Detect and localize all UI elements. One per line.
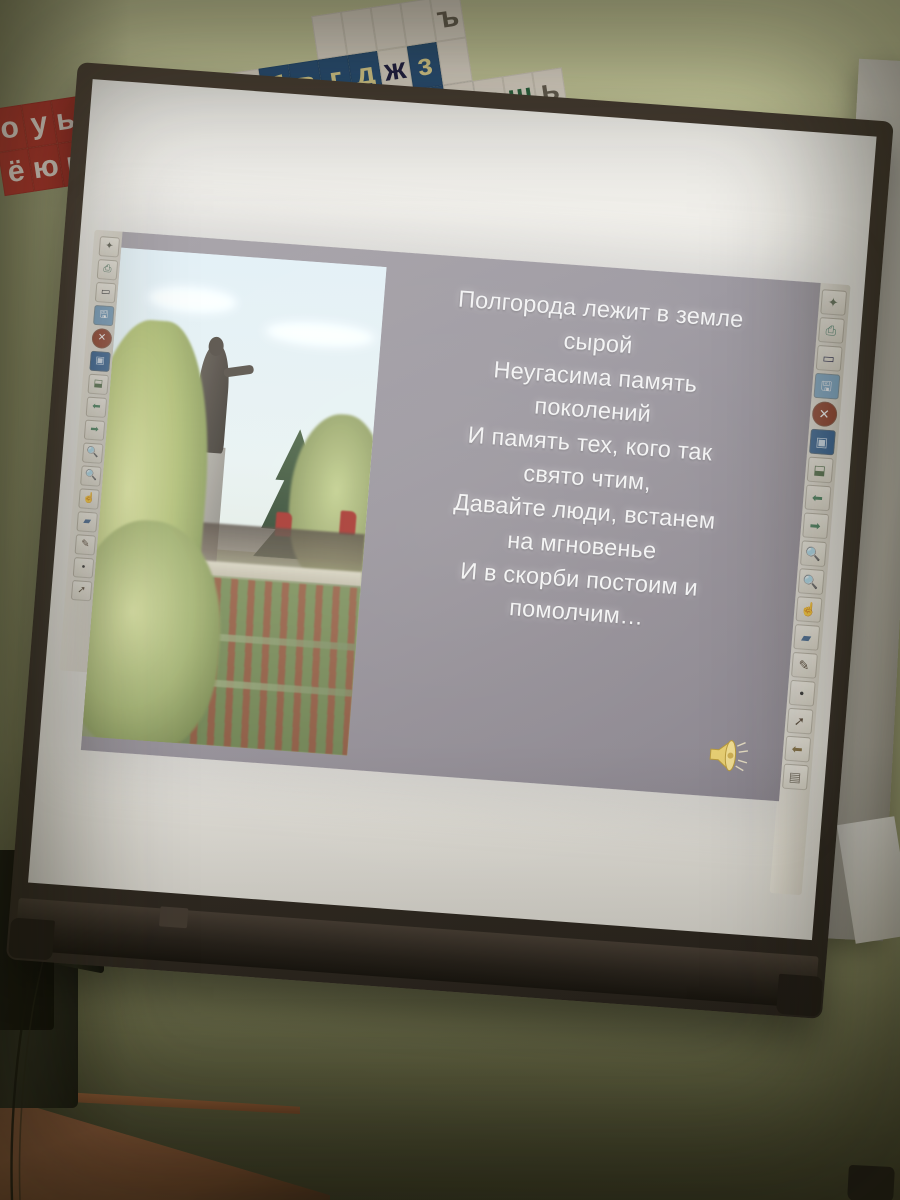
- speaker-icon[interactable]: [705, 734, 754, 777]
- dot-pen-icon[interactable]: •: [788, 680, 815, 707]
- printer-icon[interactable]: ⎙: [817, 317, 844, 344]
- close-icon[interactable]: ✕: [91, 328, 113, 349]
- classroom-photo-scene: о у ы э ё ю и е н м л р й б в: [0, 0, 900, 1200]
- undo-arrow-icon[interactable]: ⬅: [784, 736, 811, 763]
- arrow-left-icon[interactable]: ⬅: [86, 397, 108, 418]
- blank-tile: [436, 37, 472, 85]
- whiteboard-surface[interactable]: ✦ ⎙ ▭ 🖫 ✕ ▣ ⬓ ⬅ ➡ 🔍 🔍 ☝ ▰ ✎ • ➚ ✦ ⎙: [28, 79, 877, 940]
- screen-capture-icon[interactable]: ▭: [95, 282, 117, 303]
- zoom-out-icon[interactable]: 🔍: [80, 465, 102, 486]
- slide-poem: Полгорода лежит в земле сырой Неугасима …: [361, 277, 817, 646]
- dot-pen-icon[interactable]: •: [73, 557, 95, 578]
- printer-icon[interactable]: ⎙: [97, 259, 119, 280]
- marker-icon[interactable]: ➚: [71, 580, 93, 601]
- sparkle-icon[interactable]: ✦: [820, 289, 847, 316]
- pen-tray-clip: [159, 906, 189, 928]
- alphabet-row-hard-sign-blank: [436, 37, 472, 85]
- zoom-in-icon[interactable]: 🔍: [82, 442, 104, 463]
- hand-pointer-icon[interactable]: ☝: [78, 488, 100, 509]
- hand-pointer-icon[interactable]: ☝: [795, 596, 822, 623]
- side-board-corner-cap: [847, 1165, 895, 1200]
- projected-slide: Полгорода лежит в земле сырой Неугасима …: [81, 232, 821, 802]
- arrow-right-icon[interactable]: ➡: [802, 512, 829, 539]
- pencil-icon[interactable]: ✎: [75, 534, 97, 555]
- blank-tile: [400, 0, 436, 46]
- page-down-icon[interactable]: ⬓: [87, 374, 109, 395]
- eraser-icon[interactable]: ▰: [793, 624, 820, 651]
- eraser-icon[interactable]: ▰: [76, 511, 98, 532]
- save-icon[interactable]: 🖫: [813, 373, 840, 400]
- war-memorial-photo: [82, 248, 387, 756]
- interactive-whiteboard[interactable]: ✦ ⎙ ▭ 🖫 ✕ ▣ ⬓ ⬅ ➡ 🔍 🔍 ☝ ▰ ✎ • ➚ ✦ ⎙: [6, 62, 894, 1019]
- page-down-icon[interactable]: ⬓: [806, 457, 833, 484]
- arrow-left-icon[interactable]: ⬅: [804, 484, 831, 511]
- window-icon[interactable]: ▣: [89, 351, 111, 372]
- zoom-in-icon[interactable]: 🔍: [799, 540, 826, 567]
- whiteboard-corner-cap-left: [8, 917, 55, 960]
- sparkle-icon[interactable]: ✦: [99, 236, 121, 257]
- arrow-right-icon[interactable]: ➡: [84, 419, 106, 440]
- keyboard-icon[interactable]: ▤: [782, 764, 809, 791]
- close-icon[interactable]: ✕: [811, 401, 838, 428]
- save-icon[interactable]: 🖫: [93, 305, 115, 326]
- marker-icon[interactable]: ➚: [786, 708, 813, 735]
- whiteboard-corner-cap-right: [776, 974, 823, 1017]
- screen-capture-icon[interactable]: ▭: [815, 345, 842, 372]
- window-icon[interactable]: ▣: [808, 429, 835, 456]
- zoom-out-icon[interactable]: 🔍: [797, 568, 824, 595]
- pencil-icon[interactable]: ✎: [790, 652, 817, 679]
